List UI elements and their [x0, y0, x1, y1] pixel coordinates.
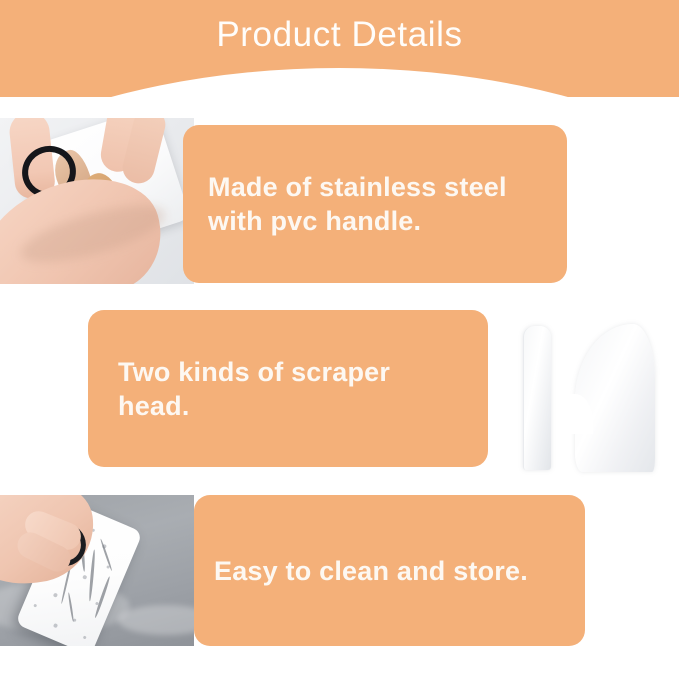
page-header: Product Details — [0, 0, 679, 100]
feature-callout-2-line-2: head. — [118, 391, 190, 421]
feature-callout-3: Easy to clean and store. — [194, 495, 585, 646]
water-sheen — [118, 605, 194, 635]
feature-callout-1-text: Made of stainless steel with pvc handle. — [208, 170, 507, 238]
product-photo-swatches — [0, 118, 194, 284]
feature-callout-1: Made of stainless steel with pvc handle. — [183, 125, 567, 283]
feature-callout-2-line-1: Two kinds of scraper — [118, 357, 390, 387]
feature-callout-1-line-1: Made of stainless steel — [208, 172, 507, 202]
feature-callout-2-text: Two kinds of scraper head. — [118, 355, 390, 423]
product-details-infographic: Product Details Made of stainless steel … — [0, 0, 679, 679]
feature-callout-3-text: Easy to clean and store. — [214, 554, 528, 588]
scraper-head-curved — [575, 324, 655, 472]
feature-callout-3-line-1: Easy to clean and store. — [214, 556, 528, 586]
feature-callout-2: Two kinds of scraper head. — [88, 310, 488, 467]
scraper-head-straight — [523, 326, 551, 470]
page-title: Product Details — [0, 13, 679, 57]
product-photo-washing — [0, 495, 194, 646]
product-photo-scraper-heads — [505, 310, 670, 470]
feature-callout-1-line-2: with pvc handle. — [208, 206, 421, 236]
